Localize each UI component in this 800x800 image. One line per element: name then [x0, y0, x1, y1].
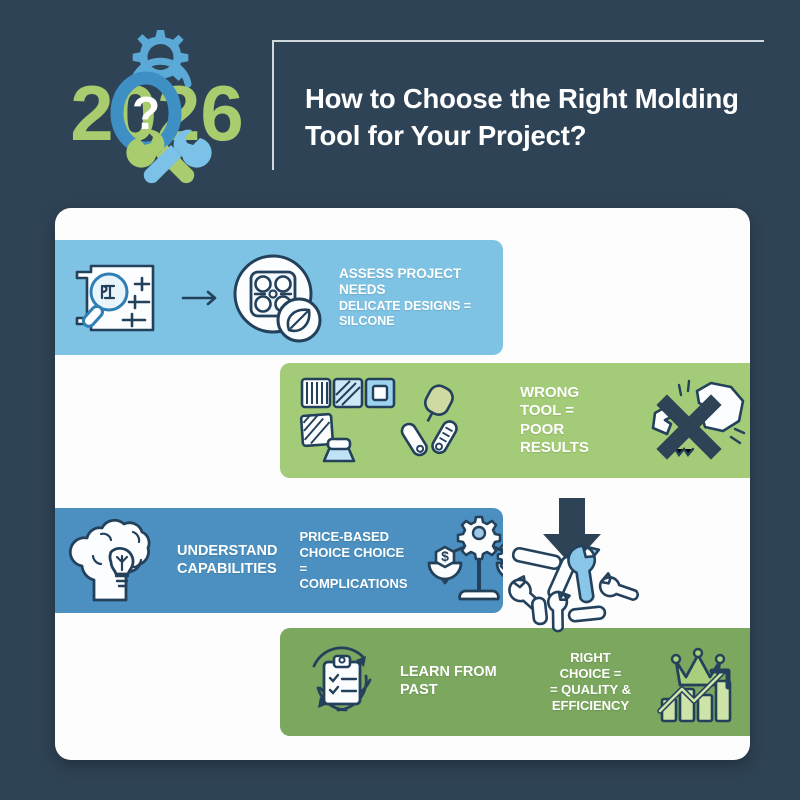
gear-large-icon: [458, 517, 500, 559]
band-assess-project-needs[interactable]: ASSESS PROJECT NEEDS DELICATE DESIGNS = …: [55, 240, 503, 355]
band3-subtext-line-1: PRICE-BASED: [299, 529, 407, 545]
svg-text:$: $: [441, 548, 449, 564]
band3-subtext: PRICE-BASED CHOICE CHOICE = COMPLICATION…: [299, 529, 407, 592]
scattered-tools-icon: [506, 540, 639, 633]
band4-subtext-line-3: EFFICIENCY: [545, 698, 636, 714]
band-understand-capabilities[interactable]: UNDERSTAND CAPABILITIES PRICE-BASED CHOI…: [55, 508, 503, 613]
brain-lightbulb-icon: [71, 516, 163, 606]
title-line-1: How to Choose the Right Molding: [305, 80, 775, 117]
title-line-2: Tool for Your Project?: [305, 117, 775, 154]
band1-text: ASSESS PROJECT NEEDS DELICATE DESIGNS = …: [339, 266, 503, 329]
page-title: How to Choose the Right Molding Tool for…: [305, 80, 775, 154]
broken-cross-icon: [623, 371, 750, 471]
logo-2026: 2026 ?: [45, 18, 270, 188]
band3-heading: UNDERSTAND CAPABILITIES: [177, 543, 277, 578]
band2-heading-line-2: POOR RESULTS: [520, 421, 589, 458]
arrow-right-icon: [181, 289, 221, 307]
mold-plate-leaf-icon: [229, 252, 325, 344]
band4-heading: LEARN FROM PAST: [400, 664, 519, 699]
band1-subtext: DELICATE DESIGNS = SILCONE: [339, 299, 503, 330]
band3-subtext-line-3: COMPLICATIONS: [299, 576, 407, 592]
band4-subtext: RIGHT CHOICE = = QUALITY & EFFICIENCY: [545, 650, 636, 713]
band-wrong-tool-poor-results[interactable]: WRONG TOOL = POOR RESULTS: [280, 363, 750, 478]
scattered-tools-group: [505, 496, 640, 631]
band2-text: WRONG TOOL = POOR RESULTS: [520, 384, 589, 457]
trowel-roller-icon: [390, 380, 468, 462]
material-swatches-icon: [298, 375, 386, 467]
band1-heading: ASSESS PROJECT NEEDS: [339, 266, 503, 299]
content-card: ASSESS PROJECT NEEDS DELICATE DESIGNS = …: [55, 208, 750, 760]
infographic-page: 2026 ? How to Choose the Right Mol: [0, 0, 800, 800]
band3-subtext-line-2: CHOICE CHOICE =: [299, 545, 407, 577]
band4-subtext-line-2: = QUALITY &: [545, 682, 636, 698]
band3-heading-line-1: UNDERSTAND: [177, 543, 277, 561]
band4-subtext-line-1: RIGHT CHOICE =: [545, 650, 636, 682]
band2-heading-line-1: WRONG TOOL =: [520, 384, 589, 421]
clipboard-refresh-icon: [296, 636, 388, 728]
band-learn-from-past[interactable]: LEARN FROM PAST RIGHT CHOICE = = QUALITY…: [280, 628, 750, 736]
band3-heading-line-2: CAPABILITIES: [177, 561, 277, 579]
crown-growth-chart-icon: [654, 637, 750, 727]
blueprint-magnifier-icon: [69, 262, 173, 334]
header: 2026 ? How to Choose the Right Mol: [0, 0, 800, 200]
scales-gear-dollar-icon: $: [426, 513, 503, 609]
